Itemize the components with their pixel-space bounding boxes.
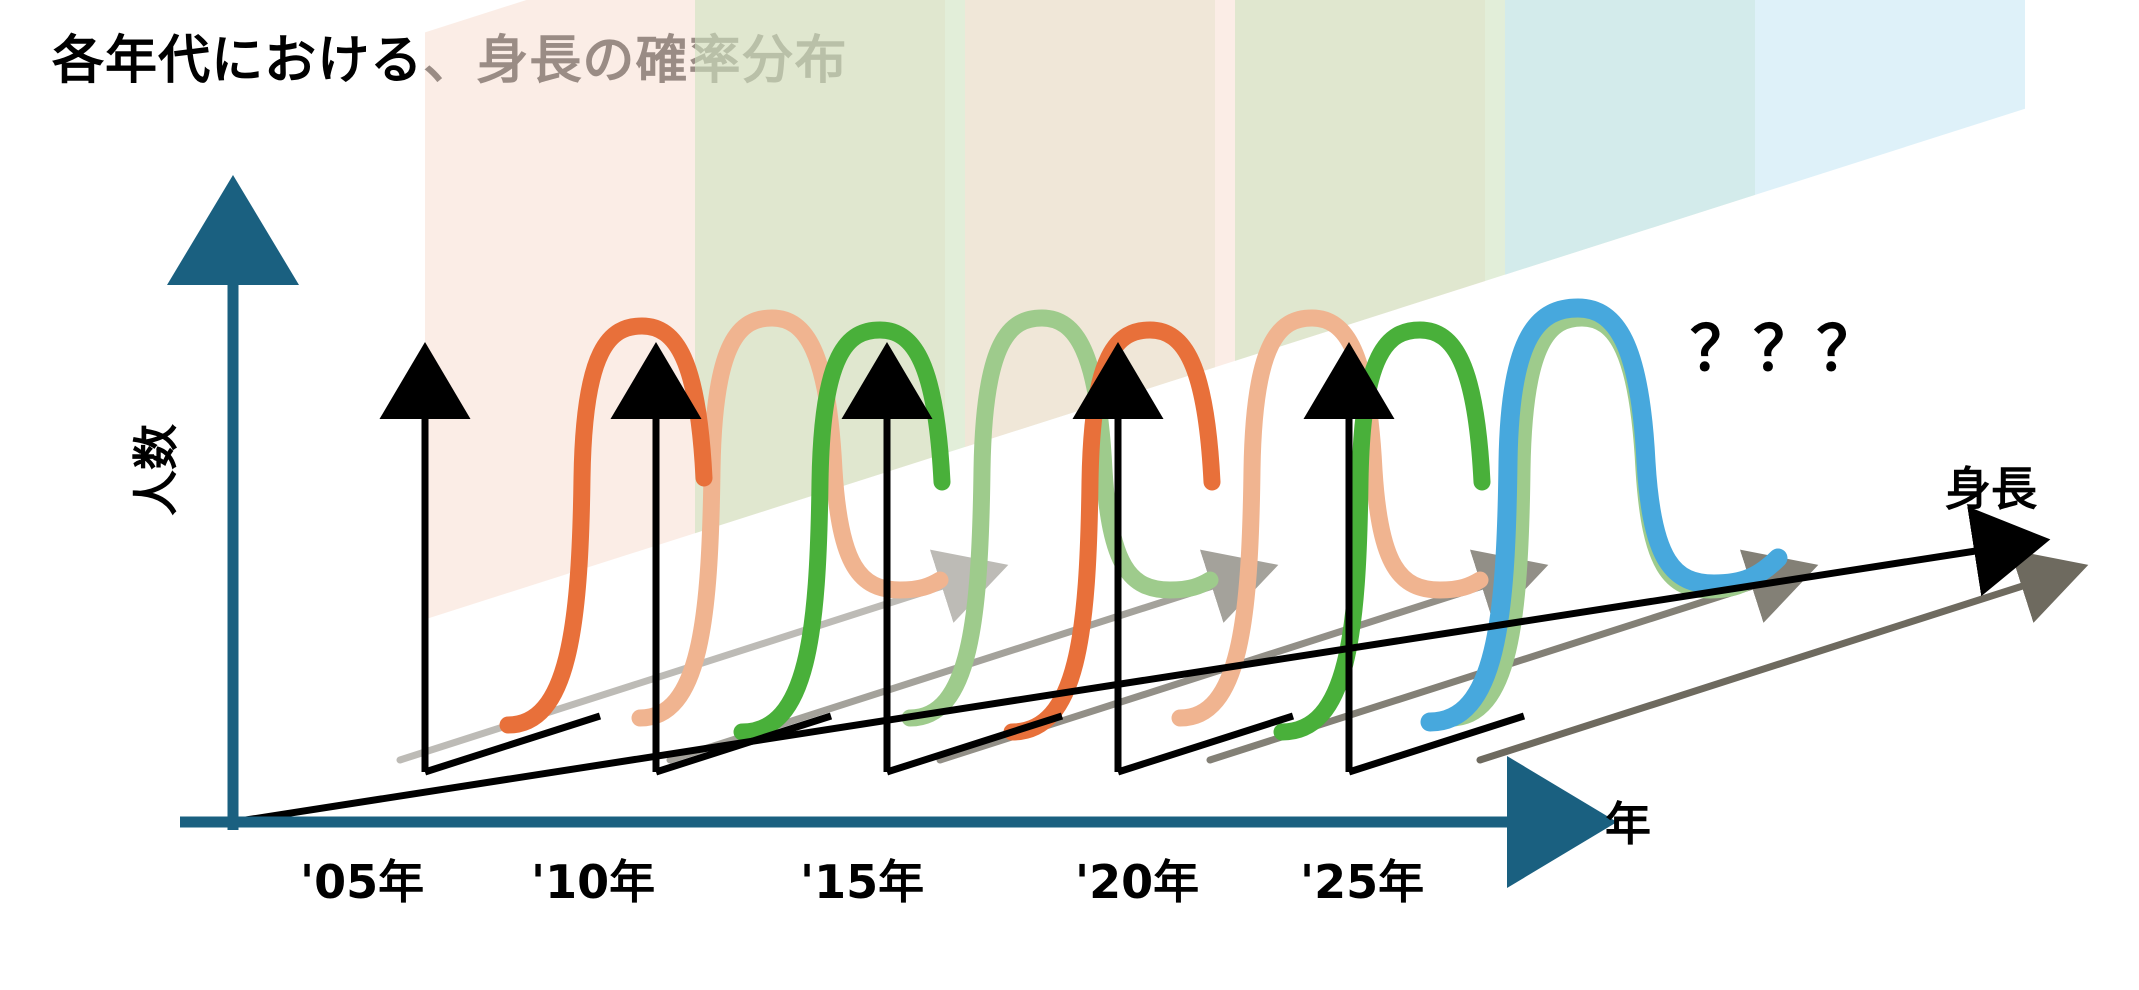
y-axis-label: 人数	[129, 424, 183, 516]
x-tick-label-2005: '05年	[300, 855, 424, 909]
trend-arrow-2025	[1480, 582, 2035, 760]
probability-distribution-diagram: 年 身長 人数 ？？？ '05年 '10年 '15年 '20年 '25年	[0, 0, 2139, 990]
curve-2015-faded	[1180, 318, 1480, 718]
trend-arrow-2005	[400, 582, 955, 760]
x-tick-label-2020: '20年	[1075, 855, 1199, 909]
plane-2025-surface	[1505, 0, 2025, 275]
x-tick-label-2025: '25年	[1300, 855, 1424, 909]
unknown-annotation: ？？？	[1690, 312, 1880, 385]
x-tick-label-2010: '10年	[531, 855, 655, 909]
x-tick-label-2015: '15年	[800, 855, 924, 909]
plane-2025	[1505, 0, 2025, 275]
depth-axis-label: 身長	[1945, 462, 2038, 516]
x-axis-label: 年	[1605, 797, 1651, 851]
figure-canvas: 各年代における、身長の確率分布	[0, 0, 2139, 990]
